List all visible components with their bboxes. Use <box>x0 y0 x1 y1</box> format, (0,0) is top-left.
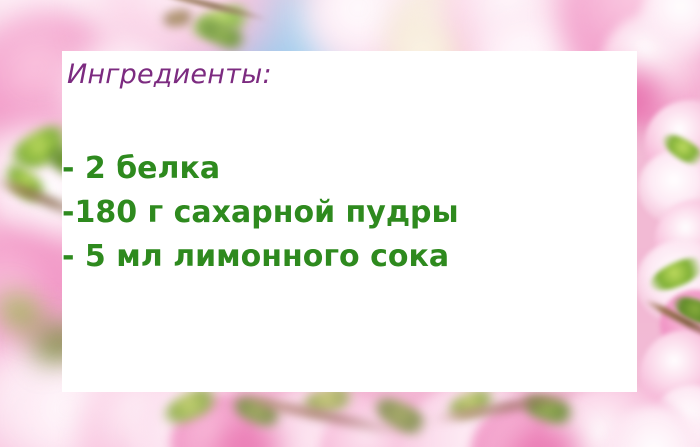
ingredients-heading: Ингредиенты: <box>67 59 272 90</box>
ingredients-card: Ингредиенты: - 2 белка -180 г сахарной п… <box>62 51 637 392</box>
ingredient-item: -180 г сахарной пудры <box>62 191 459 235</box>
ingredients-list: - 2 белка -180 г сахарной пудры - 5 мл л… <box>62 147 459 279</box>
recipe-ingredients-image: Ингредиенты: - 2 белка -180 г сахарной п… <box>0 0 700 447</box>
ingredient-item: - 5 мл лимонного сока <box>62 235 459 279</box>
ingredient-item: - 2 белка <box>62 147 459 191</box>
